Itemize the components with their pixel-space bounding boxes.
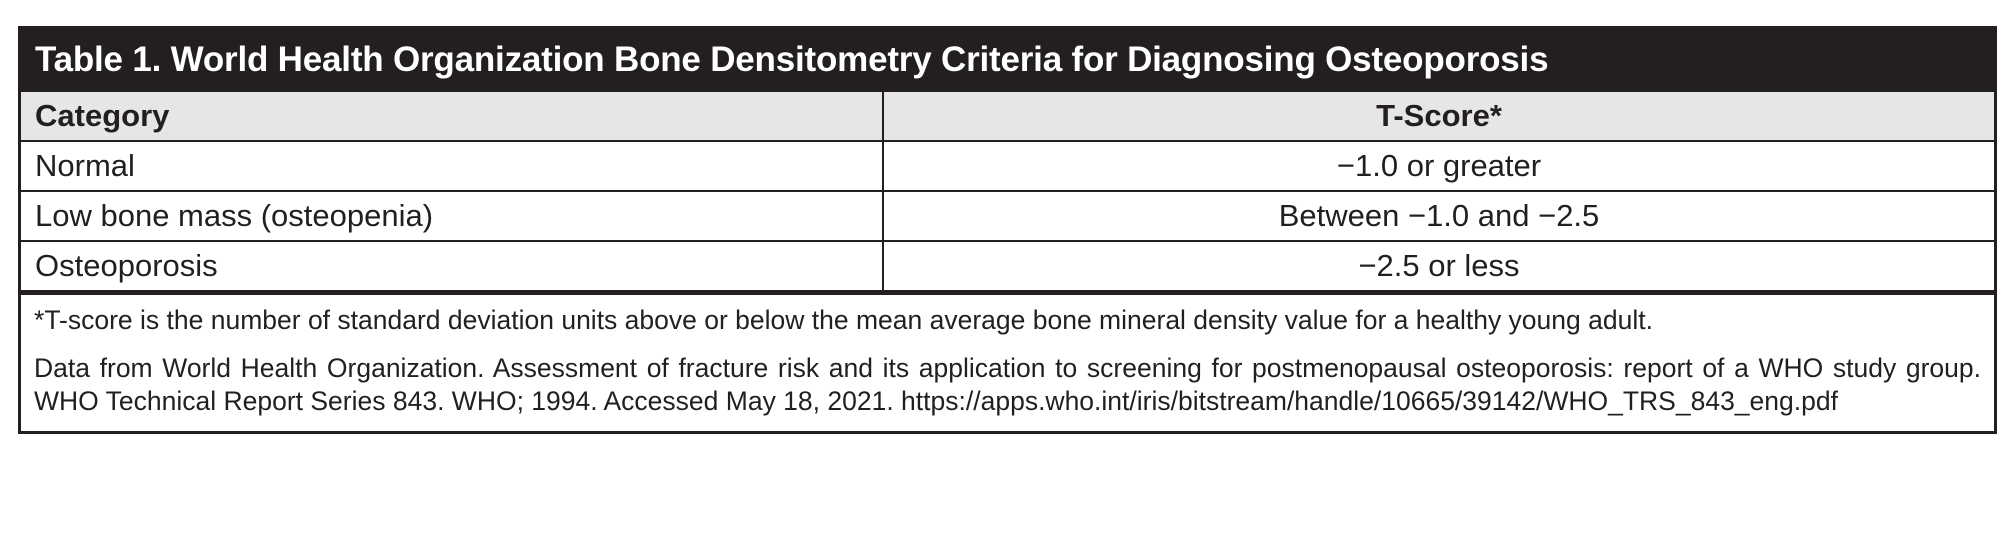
table-title: Table 1. World Health Organization Bone … [21, 29, 1994, 92]
cell-tscore-low-bone-mass: Between −1.0 and −2.5 [883, 191, 1994, 241]
cell-tscore-normal: −1.0 or greater [883, 141, 1994, 191]
column-header-t-score: T-Score* [883, 92, 1994, 141]
column-header-category: Category [21, 92, 883, 141]
table-header-row: Category T-Score* [21, 92, 1994, 141]
footnote-data-source: Data from World Health Organization. Ass… [34, 352, 1981, 419]
cell-category-normal: Normal [21, 141, 883, 191]
cell-tscore-osteoporosis: −2.5 or less [883, 241, 1994, 291]
footnote-t-score-definition: *T-score is the number of standard devia… [34, 304, 1981, 338]
table-row: Low bone mass (osteopenia) Between −1.0 … [21, 191, 1994, 241]
table-row: Osteoporosis −2.5 or less [21, 241, 1994, 291]
table-row: Normal −1.0 or greater [21, 141, 1994, 191]
who-osteoporosis-criteria-table: Table 1. World Health Organization Bone … [18, 26, 1997, 434]
cell-category-low-bone-mass: Low bone mass (osteopenia) [21, 191, 883, 241]
table-footnotes: *T-score is the number of standard devia… [21, 292, 1994, 431]
criteria-table: Category T-Score* Normal −1.0 or greater… [21, 92, 1994, 292]
cell-category-osteoporosis: Osteoporosis [21, 241, 883, 291]
